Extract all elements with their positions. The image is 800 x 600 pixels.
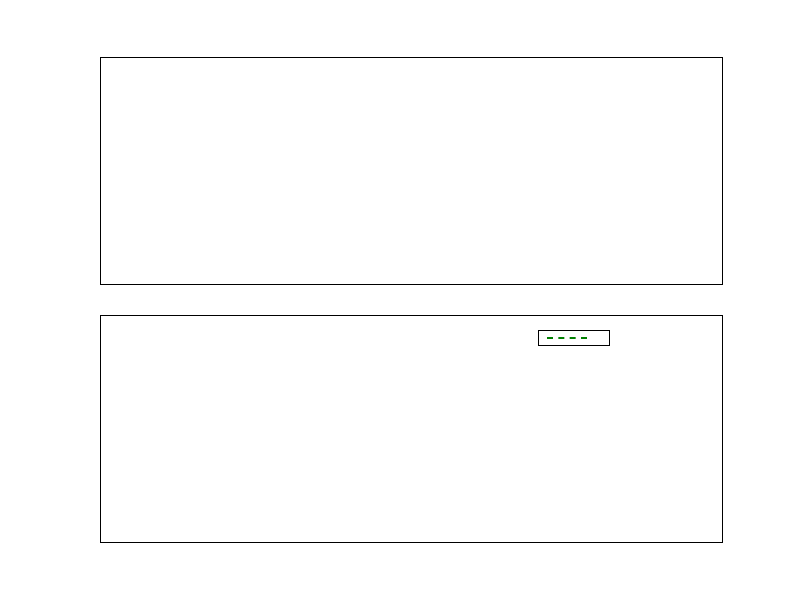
differential-histogram-plot [101,58,722,284]
cumulative-histogram-plot [101,316,722,542]
cumulative-curve-svg [101,316,722,542]
figure-canvas [0,0,800,600]
differential-histogram-axes [100,57,723,285]
cumulative-histogram-axes [100,315,723,543]
legend[interactable] [538,330,610,346]
mag-limit-line-icon [547,337,587,339]
